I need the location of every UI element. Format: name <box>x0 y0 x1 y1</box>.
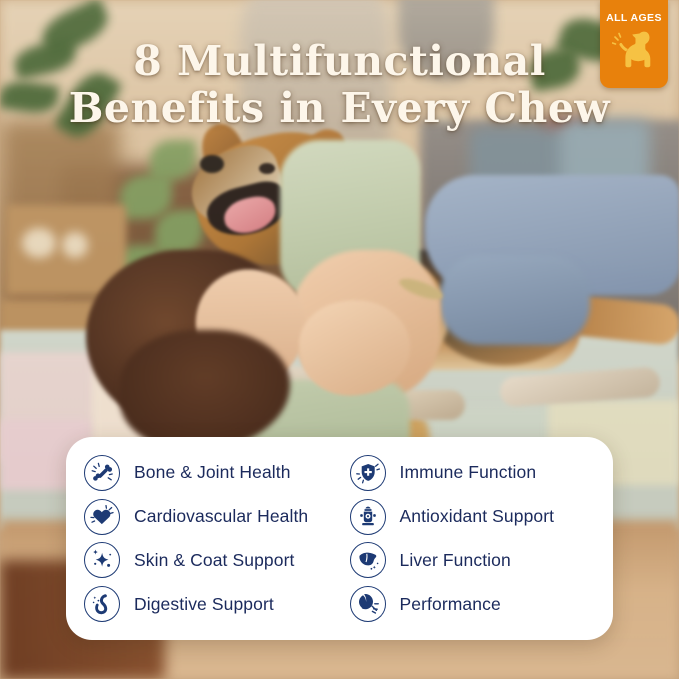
plant-leaf <box>120 175 172 219</box>
benefit-item: Performance <box>350 582 608 626</box>
ball-motion-icon <box>350 586 386 622</box>
heart-icon <box>84 499 120 535</box>
dog-nose <box>200 155 224 173</box>
shelf-item <box>62 232 88 258</box>
benefits-right-column: Immune Function <box>342 451 608 626</box>
sitting-dog-icon <box>612 27 656 73</box>
benefit-label: Digestive Support <box>134 594 274 615</box>
benefit-label: Performance <box>400 594 501 615</box>
plant-leaf <box>150 140 196 180</box>
plant-leaf <box>155 210 203 254</box>
benefit-item: Antioxidant Support <box>350 495 608 539</box>
stomach-icon <box>84 586 120 622</box>
benefit-label: Liver Function <box>400 550 511 571</box>
benefit-item: Cardiovascular Health <box>84 495 342 539</box>
bone-icon <box>84 455 120 491</box>
benefits-left-column: Bone & Joint Health Car <box>72 451 342 626</box>
page-title: 8 Multifunctional Benefits in Every Chew <box>0 38 679 132</box>
benefit-item: Bone & Joint Health <box>84 451 342 495</box>
fire-hydrant-icon <box>350 499 386 535</box>
all-ages-badge: ALL AGES <box>600 0 668 88</box>
dog-eye <box>259 163 275 174</box>
benefits-card: Bone & Joint Health Car <box>66 437 613 640</box>
benefit-item: Skin & Coat Support <box>84 539 342 583</box>
benefit-label: Immune Function <box>400 462 537 483</box>
product-lifestyle-image: 8 Multifunctional Benefits in Every Chew… <box>0 0 679 679</box>
benefit-label: Antioxidant Support <box>400 506 555 527</box>
benefit-item: Immune Function <box>350 451 608 495</box>
benefit-label: Bone & Joint Health <box>134 462 291 483</box>
shield-plus-icon <box>350 455 386 491</box>
benefit-label: Skin & Coat Support <box>134 550 294 571</box>
sparkle-icon <box>84 542 120 578</box>
headline-line-1: 8 Multifunctional <box>133 37 546 85</box>
woman-jeans-lower <box>440 255 590 345</box>
headline-line-2: Benefits in Every Chew <box>48 85 631 132</box>
shelf-item <box>22 228 56 258</box>
all-ages-label: ALL AGES <box>606 12 662 24</box>
benefit-item: Digestive Support <box>84 582 342 626</box>
benefit-label: Cardiovascular Health <box>134 506 308 527</box>
liver-icon <box>350 542 386 578</box>
benefit-item: Liver Function <box>350 539 608 583</box>
